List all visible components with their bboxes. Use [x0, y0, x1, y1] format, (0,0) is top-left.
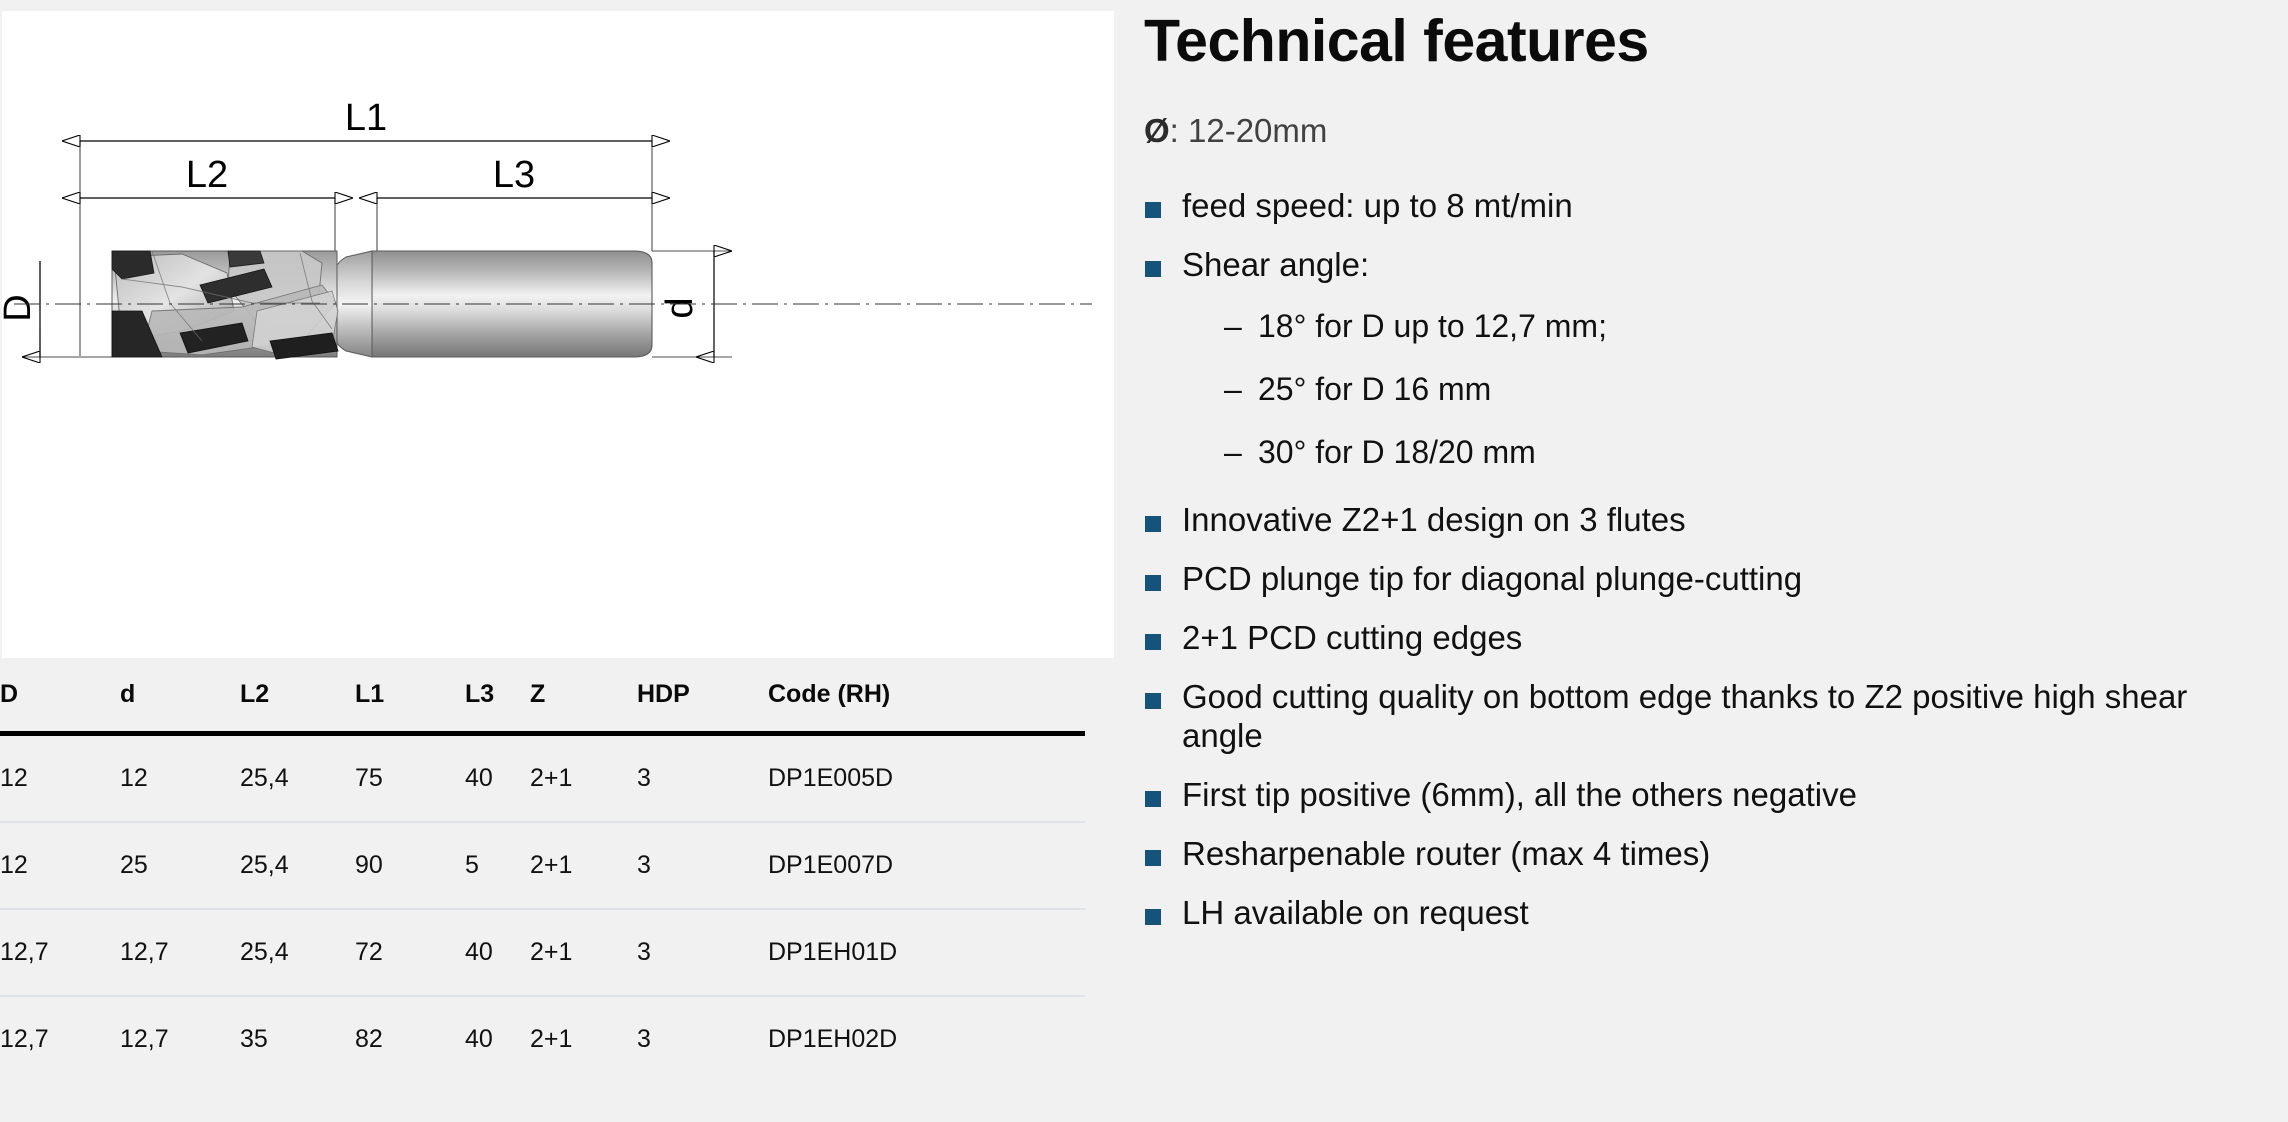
- square-bullet-icon: [1145, 791, 1161, 807]
- cell-dd: 12,7: [120, 909, 240, 996]
- cell-d: 12: [0, 822, 120, 909]
- feature-text: feed speed: up to 8 mt/min: [1182, 187, 1573, 224]
- cell-l1: 90: [355, 822, 465, 909]
- feature-text: Resharpenable router (max 4 times): [1182, 835, 1710, 872]
- cell-l3: 40: [465, 734, 530, 823]
- square-bullet-icon: [1145, 634, 1161, 650]
- cell-d: 12,7: [0, 909, 120, 996]
- dash-icon: –: [1224, 308, 1242, 345]
- cell-hdp: 3: [637, 822, 768, 909]
- list-item: Innovative Z2+1 design on 3 flutes: [1144, 501, 2248, 539]
- list-item: First tip positive (6mm), all the others…: [1144, 776, 2248, 814]
- cell-l2: 25,4: [240, 734, 355, 823]
- cell-z: 2+1: [530, 909, 637, 996]
- sub-feature-text: 25° for D 16 mm: [1258, 371, 1491, 407]
- page-root: L1 L2 L3 D d: [0, 0, 2288, 1122]
- column-header-l3: L3: [465, 680, 530, 734]
- square-bullet-icon: [1145, 909, 1161, 925]
- cell-l3: 5: [465, 822, 530, 909]
- column-header-code: Code (RH): [768, 680, 1085, 734]
- cell-hdp: 3: [637, 734, 768, 823]
- list-item: Shear angle: – 18° for D up to 12,7 mm; …: [1144, 246, 2248, 471]
- column-header-l1: L1: [355, 680, 465, 734]
- column-header-l2: L2: [240, 680, 355, 734]
- column-header-dd: d: [120, 680, 240, 734]
- cell-l1: 82: [355, 996, 465, 1082]
- cell-d: 12,7: [0, 996, 120, 1082]
- table-row[interactable]: 12 25 25,4 90 5 2+1 3 DP1E007D: [0, 822, 1085, 909]
- router-technical-drawing: L1 L2 L3 D d: [2, 11, 1114, 658]
- dimension-label-l2: L2: [186, 154, 228, 196]
- sub-list-item: – 18° for D up to 12,7 mm;: [1224, 308, 2248, 345]
- technical-features-panel: Technical features Ø: 12-20mm feed speed…: [1118, 0, 2288, 1122]
- cell-z: 2+1: [530, 734, 637, 823]
- square-bullet-icon: [1145, 202, 1161, 218]
- list-item: feed speed: up to 8 mt/min: [1144, 187, 2248, 225]
- column-header-d: D: [0, 680, 120, 734]
- left-column: L1 L2 L3 D d: [0, 0, 1118, 1122]
- cell-l2: 35: [240, 996, 355, 1082]
- square-bullet-icon: [1145, 261, 1161, 277]
- feature-text: First tip positive (6mm), all the others…: [1182, 776, 1857, 813]
- cell-l3: 40: [465, 909, 530, 996]
- feature-text: LH available on request: [1182, 894, 1529, 931]
- cell-code: DP1E005D: [768, 734, 1085, 823]
- cell-z: 2+1: [530, 822, 637, 909]
- cell-l2: 25,4: [240, 909, 355, 996]
- cell-l3: 40: [465, 996, 530, 1082]
- dimension-label-d-major: D: [2, 294, 39, 321]
- cell-z: 2+1: [530, 996, 637, 1082]
- shear-angle-sublist: – 18° for D up to 12,7 mm; – 25° for D 1…: [1182, 308, 2248, 470]
- cell-l1: 72: [355, 909, 465, 996]
- feature-text: PCD plunge tip for diagonal plunge-cutti…: [1182, 560, 1802, 597]
- cell-dd: 12: [120, 734, 240, 823]
- dimension-label-d-minor: d: [659, 297, 701, 318]
- square-bullet-icon: [1145, 575, 1161, 591]
- dash-icon: –: [1224, 371, 1242, 408]
- table-row[interactable]: 12 12 25,4 75 40 2+1 3 DP1E005D: [0, 734, 1085, 823]
- cell-code: DP1EH02D: [768, 996, 1085, 1082]
- list-item: Resharpenable router (max 4 times): [1144, 835, 2248, 873]
- table-row[interactable]: 12,7 12,7 35 82 40 2+1 3 DP1EH02D: [0, 996, 1085, 1082]
- sub-feature-text: 30° for D 18/20 mm: [1258, 434, 1536, 470]
- square-bullet-icon: [1145, 693, 1161, 709]
- specification-table: D d L2 L1 L3 Z HDP Code (RH) 12 12 25,4: [0, 680, 1085, 1082]
- diameter-symbol: Ø: [1144, 112, 1170, 149]
- feature-text: 2+1 PCD cutting edges: [1182, 619, 1522, 656]
- cell-dd: 25: [120, 822, 240, 909]
- feature-text: Shear angle:: [1182, 246, 1369, 283]
- cell-l1: 75: [355, 734, 465, 823]
- dash-icon: –: [1224, 434, 1242, 471]
- square-bullet-icon: [1145, 516, 1161, 532]
- column-header-z: Z: [530, 680, 637, 734]
- square-bullet-icon: [1145, 850, 1161, 866]
- cell-code: DP1EH01D: [768, 909, 1085, 996]
- feature-text: Innovative Z2+1 design on 3 flutes: [1182, 501, 1686, 538]
- page-title: Technical features: [1144, 0, 2248, 71]
- list-item: LH available on request: [1144, 894, 2248, 932]
- sub-list-item: – 30° for D 18/20 mm: [1224, 434, 2248, 471]
- column-header-hdp: HDP: [637, 680, 768, 734]
- sub-list-item: – 25° for D 16 mm: [1224, 371, 2248, 408]
- technical-drawing-panel: L1 L2 L3 D d: [2, 11, 1114, 658]
- cell-code: DP1E007D: [768, 822, 1085, 909]
- cell-l2: 25,4: [240, 822, 355, 909]
- dimension-label-l1: L1: [345, 97, 387, 139]
- dimension-label-l3: L3: [493, 154, 535, 196]
- specification-table-wrapper: D d L2 L1 L3 Z HDP Code (RH) 12 12 25,4: [0, 680, 1118, 1082]
- table-row[interactable]: 12,7 12,7 25,4 72 40 2+1 3 DP1EH01D: [0, 909, 1085, 996]
- cell-hdp: 3: [637, 996, 768, 1082]
- sub-feature-text: 18° for D up to 12,7 mm;: [1258, 308, 1607, 344]
- table-header-row: D d L2 L1 L3 Z HDP Code (RH): [0, 680, 1085, 734]
- feature-text: Good cutting quality on bottom edge than…: [1182, 678, 2187, 753]
- diameter-spec: Ø: 12-20mm: [1144, 111, 2248, 151]
- cell-dd: 12,7: [120, 996, 240, 1082]
- diameter-value: : 12-20mm: [1170, 112, 1328, 149]
- cell-d: 12: [0, 734, 120, 823]
- features-list: feed speed: up to 8 mt/min Shear angle: …: [1144, 187, 2248, 933]
- list-item: Good cutting quality on bottom edge than…: [1144, 678, 2248, 755]
- cell-hdp: 3: [637, 909, 768, 996]
- list-item: PCD plunge tip for diagonal plunge-cutti…: [1144, 560, 2248, 598]
- list-item: 2+1 PCD cutting edges: [1144, 619, 2248, 657]
